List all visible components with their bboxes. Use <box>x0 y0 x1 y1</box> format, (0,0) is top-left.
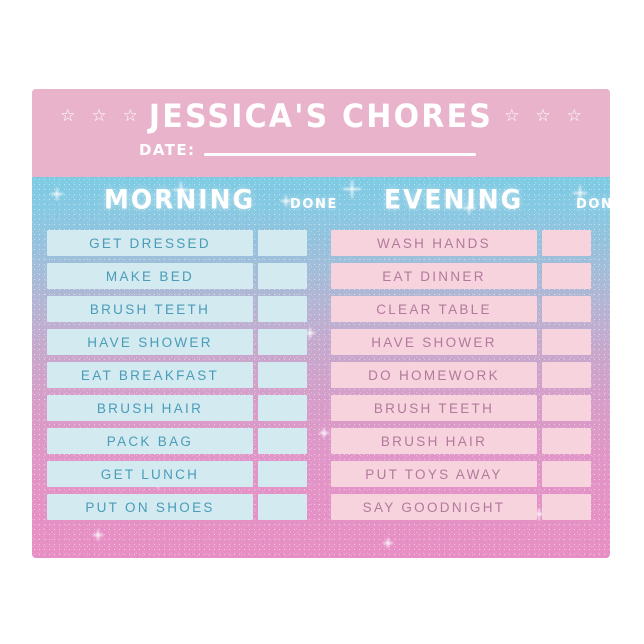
task-row: PUT ON SHOES <box>47 494 307 520</box>
done-checkbox[interactable] <box>258 428 307 454</box>
task-label: GET DRESSED <box>89 236 211 251</box>
task-label: PUT ON SHOES <box>85 500 214 515</box>
task-label: BRUSH HAIR <box>381 434 487 449</box>
column-header-morning: MORNING DONE <box>78 185 340 214</box>
task-label: BRUSH HAIR <box>97 401 203 416</box>
done-checkbox[interactable] <box>542 494 591 520</box>
task-label: EAT DINNER <box>382 269 486 284</box>
task-row: BRUSH TEETH <box>47 296 307 322</box>
task-label: WASH HANDS <box>377 236 491 251</box>
task-label: CLEAR TABLE <box>376 302 492 317</box>
task-box: MAKE BED <box>47 263 253 289</box>
task-box: EAT DINNER <box>331 263 537 289</box>
task-row: MAKE BED <box>47 263 307 289</box>
done-column-label-evening: DONE <box>576 197 610 212</box>
star-icon: ☆ <box>123 107 138 124</box>
star-icon: ☆ <box>567 107 582 124</box>
task-row: EAT DINNER <box>331 263 591 289</box>
done-checkbox[interactable] <box>258 362 307 388</box>
done-checkbox[interactable] <box>542 263 591 289</box>
star-icon: ☆ <box>504 107 519 124</box>
date-write-line[interactable] <box>204 153 476 156</box>
task-row: CLEAR TABLE <box>331 296 591 322</box>
chore-chart-card: ☆ ☆ ☆ JESSICA'S CHORES ☆ ☆ ☆ DATE: MORNI… <box>32 89 610 558</box>
page-title: JESSICA'S CHORES <box>149 98 493 136</box>
task-box: DO HOMEWORK <box>331 362 537 388</box>
task-box: BRUSH TEETH <box>47 296 253 322</box>
task-label: DO HOMEWORK <box>368 368 500 383</box>
task-box: WASH HANDS <box>331 230 537 256</box>
task-label: HAVE SHOWER <box>87 335 213 350</box>
done-checkbox[interactable] <box>542 461 591 487</box>
task-row: EAT BREAKFAST <box>47 362 307 388</box>
date-label: DATE: <box>139 143 195 158</box>
task-row: PACK BAG <box>47 428 307 454</box>
task-box: BRUSH HAIR <box>331 428 537 454</box>
star-icon: ☆ <box>60 107 75 124</box>
task-box: CLEAR TABLE <box>331 296 537 322</box>
date-field[interactable]: DATE: <box>139 143 476 158</box>
task-row: PUT TOYS AWAY <box>331 461 591 487</box>
task-box: HAVE SHOWER <box>331 329 537 355</box>
done-checkbox[interactable] <box>258 461 307 487</box>
task-box: EAT BREAKFAST <box>47 362 253 388</box>
column-title-morning: MORNING <box>104 184 255 214</box>
task-row: HAVE SHOWER <box>331 329 591 355</box>
task-row: SAY GOODNIGHT <box>331 494 591 520</box>
star-icon: ☆ <box>535 107 550 124</box>
task-row: BRUSH HAIR <box>331 428 591 454</box>
task-box: PACK BAG <box>47 428 253 454</box>
task-box: BRUSH TEETH <box>331 395 537 421</box>
task-label: MAKE BED <box>106 269 194 284</box>
task-box: HAVE SHOWER <box>47 329 253 355</box>
task-box: SAY GOODNIGHT <box>331 494 537 520</box>
task-label: GET LUNCH <box>101 467 199 482</box>
task-row: BRUSH HAIR <box>47 395 307 421</box>
column-title-evening: EVENING <box>384 184 523 214</box>
task-label: EAT BREAKFAST <box>81 368 219 383</box>
done-checkbox[interactable] <box>258 494 307 520</box>
done-checkbox[interactable] <box>258 395 307 421</box>
task-row: DO HOMEWORK <box>331 362 591 388</box>
done-checkbox[interactable] <box>542 329 591 355</box>
task-label: HAVE SHOWER <box>371 335 497 350</box>
card-header-band: ☆ ☆ ☆ JESSICA'S CHORES ☆ ☆ ☆ DATE: <box>32 89 610 177</box>
done-checkbox[interactable] <box>258 329 307 355</box>
task-label: PACK BAG <box>107 434 193 449</box>
task-box: GET LUNCH <box>47 461 253 487</box>
task-label: PUT TOYS AWAY <box>365 467 502 482</box>
task-column-morning: GET DRESSED MAKE BED BRUSH TEETH HAVE SH… <box>47 230 307 520</box>
task-box: PUT TOYS AWAY <box>331 461 537 487</box>
task-label: SAY GOODNIGHT <box>363 500 506 515</box>
task-box: PUT ON SHOES <box>47 494 253 520</box>
task-row: WASH HANDS <box>331 230 591 256</box>
title-row: ☆ ☆ ☆ JESSICA'S CHORES ☆ ☆ ☆ <box>32 99 610 134</box>
done-checkbox[interactable] <box>542 230 591 256</box>
done-checkbox[interactable] <box>258 263 307 289</box>
done-checkbox[interactable] <box>542 362 591 388</box>
task-label: BRUSH TEETH <box>374 401 494 416</box>
task-row: GET LUNCH <box>47 461 307 487</box>
done-checkbox[interactable] <box>542 428 591 454</box>
done-checkbox[interactable] <box>542 296 591 322</box>
task-row: GET DRESSED <box>47 230 307 256</box>
task-row: HAVE SHOWER <box>47 329 307 355</box>
task-row: BRUSH TEETH <box>331 395 591 421</box>
task-box: BRUSH HAIR <box>47 395 253 421</box>
task-column-evening: WASH HANDS EAT DINNER CLEAR TABLE HAVE S… <box>331 230 591 520</box>
task-label: BRUSH TEETH <box>90 302 210 317</box>
column-header-evening: EVENING DONE <box>362 185 610 214</box>
done-checkbox[interactable] <box>258 230 307 256</box>
task-box: GET DRESSED <box>47 230 253 256</box>
done-checkbox[interactable] <box>258 296 307 322</box>
screenshot-canvas: ☆ ☆ ☆ JESSICA'S CHORES ☆ ☆ ☆ DATE: MORNI… <box>0 0 644 644</box>
star-icon: ☆ <box>91 107 106 124</box>
done-column-label-morning: DONE <box>290 197 338 212</box>
done-checkbox[interactable] <box>542 395 591 421</box>
